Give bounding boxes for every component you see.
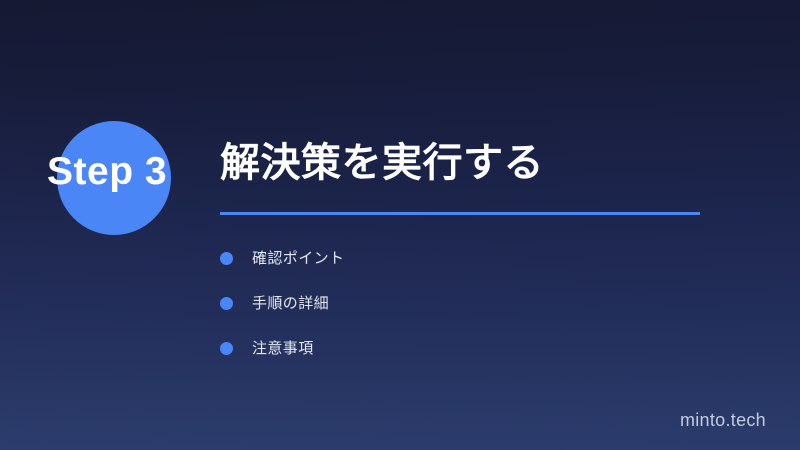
step-badge-label: Step 3 (47, 152, 167, 191)
slide-title: 解決策を実行する (220, 140, 760, 187)
title-divider (220, 212, 700, 215)
bullet-label: 手順の詳細 (252, 296, 329, 311)
bullet-label: 確認ポイント (252, 251, 344, 266)
list-item: 手順の詳細 (220, 281, 344, 326)
presentation-slide: Step 3 解決策を実行する 確認ポイント 手順の詳細 注意事項 minto.… (0, 0, 800, 450)
bullet-list: 確認ポイント 手順の詳細 注意事項 (220, 236, 344, 371)
bullet-dot-icon (220, 297, 233, 310)
footer-brand: minto.tech (680, 410, 766, 431)
bullet-label: 注意事項 (252, 341, 314, 356)
list-item: 注意事項 (220, 326, 344, 371)
bullet-dot-icon (220, 252, 233, 265)
title-block: 解決策を実行する (220, 140, 760, 187)
list-item: 確認ポイント (220, 236, 344, 281)
bullet-dot-icon (220, 342, 233, 355)
